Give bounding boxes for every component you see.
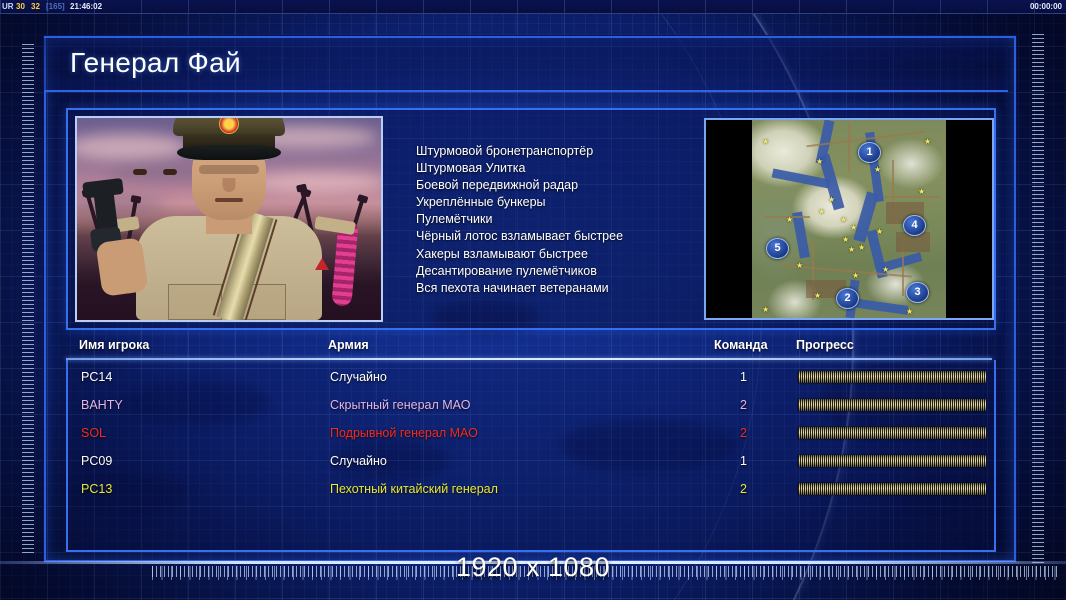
map-start-position-3: 3 [906, 282, 929, 303]
cell-progress [798, 427, 986, 439]
cell-army: Подрывной генерал МАО [330, 420, 478, 446]
map-resource-icon: ★ [918, 188, 925, 196]
progress-bar [798, 483, 986, 495]
ability-item: Хакеры взламывают быстрее [416, 246, 696, 263]
map-start-position-2: 2 [836, 288, 859, 309]
elapsed-timer: 00:00:00 [1030, 1, 1062, 12]
map-resource-icon: ★ [840, 216, 847, 224]
map-resource-icon: ★ [848, 246, 855, 254]
ability-item: Боевой передвижной радар [416, 177, 696, 194]
map-start-position-5: 5 [766, 238, 789, 259]
cell-team: 1 [740, 364, 747, 390]
cell-player-name: PC09 [81, 448, 112, 474]
cell-army: Пехотный китайский генерал [330, 476, 498, 502]
progress-bar [798, 427, 986, 439]
map-resource-icon: ★ [814, 292, 821, 300]
map-resource-icon: ★ [850, 224, 857, 232]
map-resource-icon: ★ [828, 196, 835, 204]
column-header-army: Армия [328, 338, 369, 352]
player-table-header: Имя игрока Армия Команда Прогресс [66, 338, 992, 360]
cell-player-name: PC14 [81, 364, 112, 390]
map-start-position-4: 4 [903, 215, 926, 236]
cell-army: Случайно [330, 448, 387, 474]
cell-team: 2 [740, 392, 747, 418]
status-value-b: 32 [31, 1, 40, 12]
ruler-right [1032, 34, 1044, 564]
progress-bar [798, 399, 986, 411]
portrait-eye-left [133, 169, 147, 175]
map-resource-icon: ★ [786, 216, 793, 224]
cell-progress [798, 483, 986, 495]
cell-player-name: BAHTY [81, 392, 123, 418]
column-header-team: Команда [714, 338, 768, 352]
map-resource-icon: ★ [858, 244, 865, 252]
player-table-body: PC14Случайно1BAHTYСкрытный генерал МАО2S… [66, 360, 996, 552]
status-value-a: 30 [16, 1, 25, 12]
ability-item: Штурмовой бронетранспортёр [416, 143, 696, 160]
map-resource-icon: ★ [852, 272, 859, 280]
map-resource-icon: ★ [762, 138, 769, 146]
top-status-bar: UR 30 32 [165] 21:46:02 00:00:00 [0, 0, 1066, 14]
map-resource-icon: ★ [924, 138, 931, 146]
table-row[interactable]: SOLПодрывной генерал МАО2 [68, 420, 994, 446]
ability-item: Десантирование пулемётчиков [416, 263, 696, 280]
map-resource-icon: ★ [816, 158, 823, 166]
progress-bar [798, 371, 986, 383]
table-header-divider [66, 358, 992, 360]
status-label-ur: UR [2, 1, 14, 12]
cell-progress [798, 371, 986, 383]
page-title: Генерал Фай [70, 47, 241, 79]
table-row[interactable]: PC14Случайно1 [68, 364, 994, 390]
status-value-c: [165] [46, 1, 65, 12]
map-resource-icon: ★ [882, 266, 889, 274]
ruler-left [22, 44, 34, 556]
cell-team: 2 [740, 420, 747, 446]
column-header-player-name: Имя игрока [79, 338, 149, 352]
cell-player-name: SOL [81, 420, 106, 446]
table-row[interactable]: BAHTYСкрытный генерал МАО2 [68, 392, 994, 418]
status-clock: 21:46:02 [70, 1, 102, 12]
game-loading-screen: UR 30 32 [165] 21:46:02 00:00:00 Генерал… [0, 0, 1066, 600]
map-resource-icon: ★ [906, 308, 913, 316]
cell-player-name: PC13 [81, 476, 112, 502]
ability-item: Укреплённые бункеры [416, 194, 696, 211]
map-start-position-1: 1 [858, 142, 881, 163]
progress-bar [798, 455, 986, 467]
table-row[interactable]: PC09Случайно1 [68, 448, 994, 474]
table-row[interactable]: PC13Пехотный китайский генерал2 [68, 476, 994, 502]
ability-item: Пулемётчики [416, 211, 696, 228]
portrait-eye-right [163, 169, 177, 175]
cell-team: 1 [740, 448, 747, 474]
general-abilities-list: Штурмовой бронетранспортёр Штурмовая Ули… [416, 143, 696, 297]
general-portrait [75, 116, 383, 322]
topbar-grid [0, 0, 1066, 13]
column-header-progress: Прогресс [796, 338, 854, 352]
map-letterbox-left [706, 120, 752, 318]
map-resource-icon: ★ [818, 208, 825, 216]
ability-item: Вся пехота начинает ветеранами [416, 280, 696, 297]
cell-army: Скрытный генерал МАО [330, 392, 470, 418]
resolution-label: 1920 x 1080 [0, 552, 1066, 583]
cell-army: Случайно [330, 364, 387, 390]
cell-progress [798, 455, 986, 467]
map-resource-icon: ★ [796, 262, 803, 270]
map-preview: ★ ★ ★ ★ ★ ★ ★ ★ ★ ★ ★ ★ ★ ★ ★ ★ ★ ★ ★ ★ … [704, 118, 994, 320]
cell-progress [798, 399, 986, 411]
ability-item: Штурмовая Улитка [416, 160, 696, 177]
portrait-star-pin [315, 258, 329, 270]
map-resource-icon: ★ [876, 228, 883, 236]
map-resource-icon: ★ [842, 236, 849, 244]
portrait-hand [95, 237, 148, 297]
map-resource-icon: ★ [762, 306, 769, 314]
map-resource-icon: ★ [874, 166, 881, 174]
map-letterbox-right [950, 120, 992, 318]
ability-item: Чёрный лотос взламывает быстрее [416, 228, 696, 245]
cell-team: 2 [740, 476, 747, 502]
